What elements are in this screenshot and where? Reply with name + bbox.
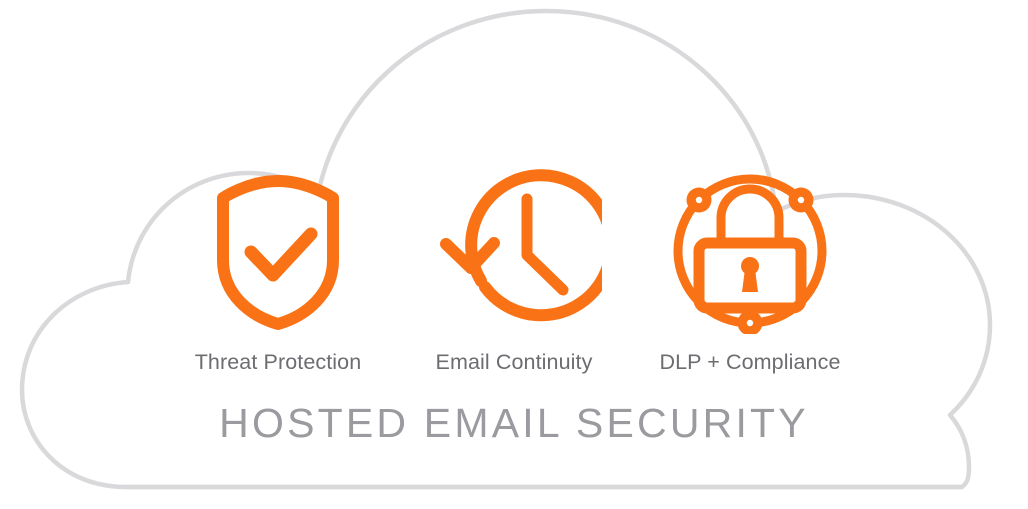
feature-label-row: Threat Protection Email Continuity DLP +… <box>0 345 1028 379</box>
clock-rewind-icon <box>426 168 602 334</box>
shield-check-icon <box>210 168 346 334</box>
feature-icon-row <box>0 168 1028 333</box>
main-title: HOSTED EMAIL SECURITY <box>0 398 1028 448</box>
feature-label-dlp-compliance: DLP + Compliance <box>632 350 868 375</box>
hosted-email-security-graphic: Threat Protection Email Continuity DLP +… <box>0 0 1028 509</box>
feature-label-email-continuity: Email Continuity <box>396 350 632 375</box>
padlock-network-icon <box>665 168 835 334</box>
feature-label-threat-protection: Threat Protection <box>160 350 396 375</box>
feature-icon-dlp-compliance <box>632 168 868 333</box>
feature-icon-email-continuity <box>396 168 632 333</box>
feature-icon-threat-protection <box>160 168 396 333</box>
